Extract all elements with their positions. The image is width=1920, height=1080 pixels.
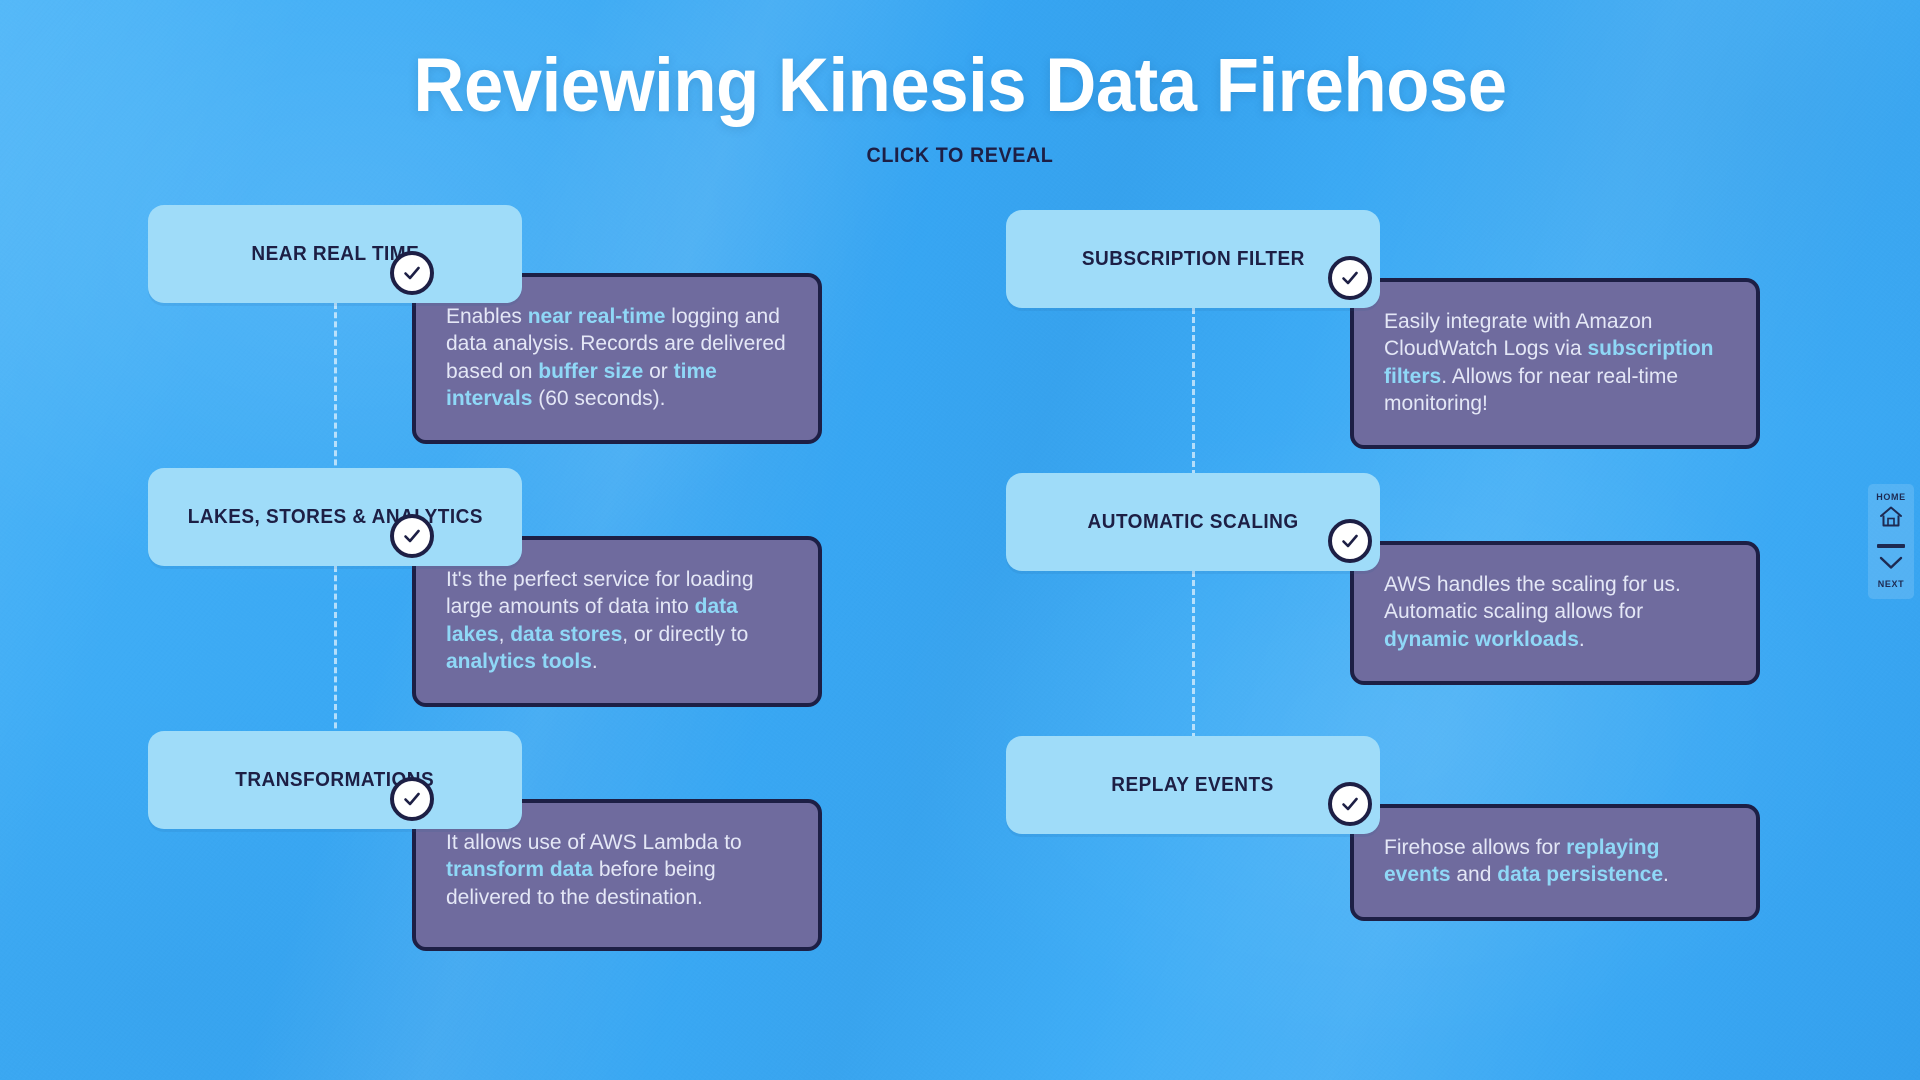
check-icon[interactable] <box>1328 782 1372 826</box>
reveal-body-text: It's the perfect service for loading lar… <box>446 566 788 675</box>
reveal-group: NEAR REAL TIMEEnables near real-time log… <box>148 205 908 303</box>
check-icon[interactable] <box>390 777 434 821</box>
home-label: HOME <box>1876 492 1905 502</box>
reveal-body-text: Enables near real-time logging and data … <box>446 303 788 412</box>
reveal-group: AUTOMATIC SCALINGAWS handles the scaling… <box>1006 473 1766 571</box>
chevron-down-icon[interactable] <box>1878 555 1904 576</box>
next-label: NEXT <box>1878 579 1904 589</box>
reveal-panel[interactable]: AWS handles the scaling for us. Automati… <box>1350 541 1760 685</box>
check-icon[interactable] <box>390 251 434 295</box>
divider-bar <box>1877 544 1905 548</box>
reveal-body-text: Easily integrate with Amazon CloudWatch … <box>1384 308 1726 417</box>
reveal-title-card[interactable]: NEAR REAL TIME <box>148 205 522 303</box>
dashed-connector <box>334 566 337 756</box>
check-icon[interactable] <box>1328 519 1372 563</box>
reveal-body-text: It allows use of AWS Lambda to transform… <box>446 829 788 911</box>
reveal-group: REPLAY EVENTSFirehose allows for replayi… <box>1006 736 1766 834</box>
reveal-title-label: SUBSCRIPTION FILTER <box>1066 248 1319 271</box>
reveal-title-card[interactable]: LAKES, STORES & ANALYTICS <box>148 468 522 566</box>
reveal-title-label: AUTOMATIC SCALING <box>1072 511 1313 534</box>
reveal-title-label: LAKES, STORES & ANALYTICS <box>172 506 498 529</box>
reveal-title-card[interactable]: TRANSFORMATIONS <box>148 731 522 829</box>
reveal-title-card[interactable]: AUTOMATIC SCALING <box>1006 473 1380 571</box>
check-icon[interactable] <box>1328 256 1372 300</box>
reveal-group: SUBSCRIPTION FILTEREasily integrate with… <box>1006 210 1766 308</box>
page-title: Reviewing Kinesis Data Firehose <box>67 0 1853 124</box>
side-navigation[interactable]: HOME NEXT <box>1868 484 1914 599</box>
reveal-panel[interactable]: Easily integrate with Amazon CloudWatch … <box>1350 278 1760 449</box>
reveal-body-text: Firehose allows for replaying events and… <box>1384 834 1726 889</box>
reveal-body-text: AWS handles the scaling for us. Automati… <box>1384 571 1726 653</box>
page-subtitle: CLICK TO REVEAL <box>58 124 1863 168</box>
reveal-title-label: REPLAY EVENTS <box>1097 774 1290 797</box>
header: Reviewing Kinesis Data Firehose CLICK TO… <box>0 0 1920 168</box>
check-icon[interactable] <box>390 514 434 558</box>
home-icon[interactable] <box>1878 505 1904 534</box>
reveal-title-card[interactable]: REPLAY EVENTS <box>1006 736 1380 834</box>
dashed-connector <box>334 303 337 493</box>
reveal-title-card[interactable]: SUBSCRIPTION FILTER <box>1006 210 1380 308</box>
dashed-connector <box>1192 571 1195 757</box>
reveal-group: TRANSFORMATIONSIt allows use of AWS Lamb… <box>148 731 908 829</box>
dashed-connector <box>1192 308 1195 494</box>
reveal-panel[interactable]: Firehose allows for replaying events and… <box>1350 804 1760 921</box>
reveal-group: LAKES, STORES & ANALYTICSIt's the perfec… <box>148 468 908 566</box>
